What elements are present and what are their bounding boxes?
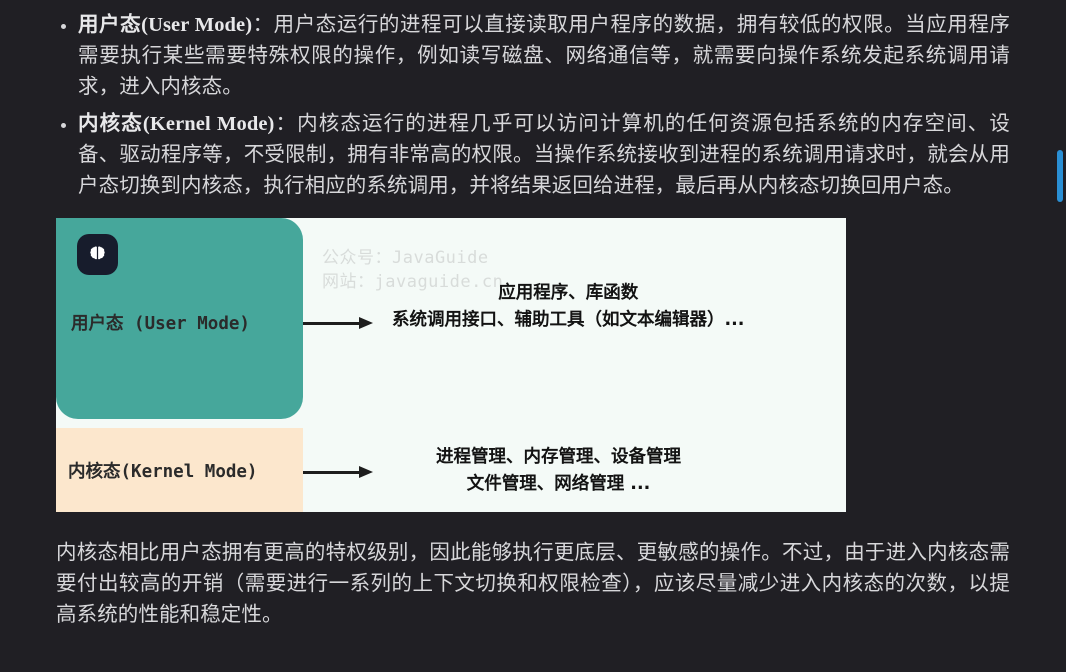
closing-paragraph: 内核态相比用户态拥有更高的特权级别，因此能够执行更底层、更敏感的操作。不过，由于… [56,538,1010,631]
kernel-desc-line-2: 文件管理、网络管理 ... [436,471,681,498]
user-desc-line-1: 应用程序、库函数 [392,280,744,307]
kernel-mode-box: 内核态(Kernel Mode) [56,428,303,512]
list-item: 内核态(Kernel Mode)：内核态运行的进程几乎可以访问计算机的任何资源包… [56,109,1010,202]
bullet-term-kernel-mode: 内核态(Kernel Mode) [78,113,274,135]
user-mode-description: 应用程序、库函数 系统调用接口、辅助工具（如文本编辑器）... [392,280,744,334]
scrollbar-thumb[interactable] [1057,150,1063,202]
mode-diagram-figure: 公众号：JavaGuide 网站：javaguide.cn 用户态 (User … [56,218,846,514]
kernel-mode-description: 进程管理、内存管理、设备管理 文件管理、网络管理 ... [436,444,681,498]
diagram-canvas: 公众号：JavaGuide 网站：javaguide.cn 用户态 (User … [56,218,846,512]
watermark-line-1: 公众号：JavaGuide [322,246,503,270]
kernel-mode-label: 内核态(Kernel Mode) [68,458,257,483]
list-item: 用户态(User Mode)：用户态运行的进程可以直接读取用户程序的数据，拥有较… [56,10,1010,103]
arrow-kernel-to-services-icon [303,466,373,478]
user-mode-box: 用户态 (User Mode) [56,218,303,419]
bullet-term-user-mode: 用户态(User Mode) [78,14,252,36]
user-desc-line-2: 系统调用接口、辅助工具（如文本编辑器）... [392,307,744,334]
brain-icon [77,234,118,275]
mode-bullet-list: 用户态(User Mode)：用户态运行的进程可以直接读取用户程序的数据，拥有较… [56,10,1010,202]
arrow-user-to-apps-icon [303,317,373,329]
article-content: 用户态(User Mode)：用户态运行的进程可以直接读取用户程序的数据，拥有较… [0,0,1066,672]
scrollbar-track[interactable] [1057,0,1063,672]
user-mode-label: 用户态 (User Mode) [71,310,250,335]
kernel-desc-line-1: 进程管理、内存管理、设备管理 [436,444,681,471]
